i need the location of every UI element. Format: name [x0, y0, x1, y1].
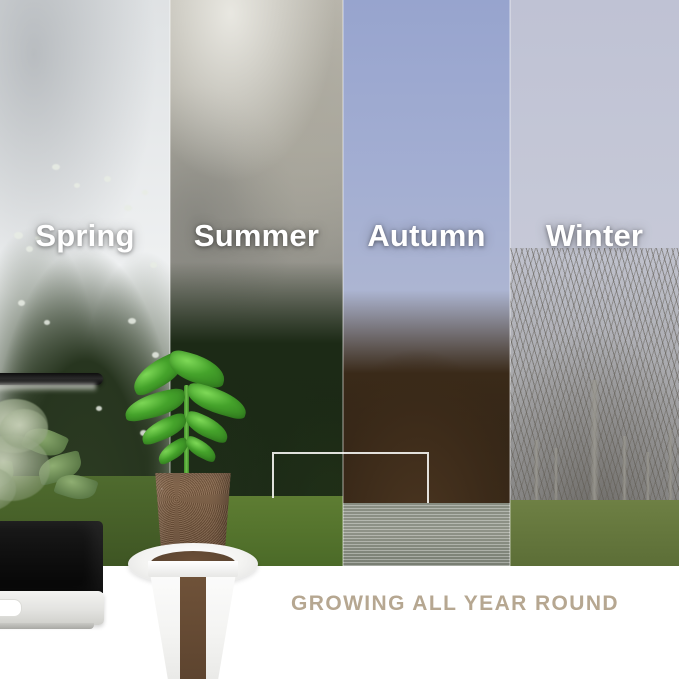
grow-lamp-glow — [0, 384, 96, 392]
blossom-cluster — [128, 318, 136, 324]
unit-reservoir-body — [0, 521, 103, 593]
tree-trunk — [590, 380, 599, 502]
season-label-summer: Summer — [170, 216, 343, 256]
blossom-cluster — [18, 300, 25, 306]
panel-seam — [509, 0, 511, 566]
season-label-autumn: Autumn — [343, 216, 510, 256]
unit-control-button[interactable] — [0, 599, 22, 617]
tree-trunk — [646, 452, 650, 502]
pod-root-slot — [180, 577, 206, 679]
tree-trunk — [554, 448, 558, 502]
unit-foot — [0, 623, 94, 629]
blossom-cluster — [44, 320, 50, 325]
seed-pod-assembly — [118, 355, 264, 679]
blossom-cluster — [142, 190, 148, 195]
product-image: Spring Summer Autumn Winter GROWING ALL … — [0, 0, 679, 679]
dill-frond — [0, 409, 48, 449]
blossom-cluster — [52, 164, 60, 170]
blossom-cluster — [124, 205, 132, 211]
tree-trunk — [622, 436, 627, 502]
blossom-cluster — [150, 262, 157, 268]
seedling-plant — [124, 355, 260, 487]
panel-seam — [342, 0, 344, 566]
tree-trunk — [534, 440, 539, 502]
football-goal — [343, 452, 429, 504]
season-label-winter: Winter — [510, 216, 679, 256]
football-goal — [272, 452, 343, 498]
hydroponic-garden-unit — [0, 373, 105, 638]
autumn-frosted-grass — [343, 503, 510, 566]
blossom-cluster — [104, 176, 111, 182]
winter-grass — [510, 500, 679, 566]
pod-basket-collar — [148, 561, 238, 577]
tree-trunk — [668, 430, 673, 502]
herb-plants — [0, 389, 108, 525]
blossom-cluster — [74, 183, 80, 188]
tagline-text: GROWING ALL YEAR ROUND — [255, 592, 655, 616]
season-label-spring: Spring — [0, 216, 170, 256]
